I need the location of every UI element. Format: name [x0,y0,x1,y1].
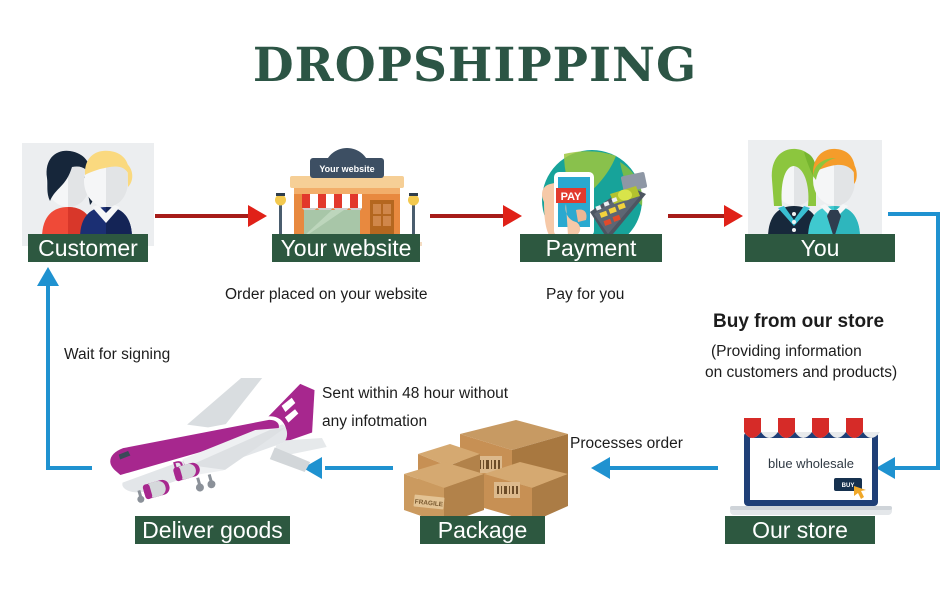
page-title: DROPSHIPPING [0,38,950,93]
arrow-website-to-payment-head [503,205,522,227]
arrow-customer-to-website-head [248,205,267,227]
arrow-right-vertical-segment [936,212,940,470]
arrow-payment-to-you-line [668,214,726,218]
label-package: Package [420,516,545,544]
arrow-store-to-package-line [610,466,718,470]
annotation-sent-within-line2: any infotmation [322,411,427,432]
phone-pay-text: PAY [561,191,582,203]
annotation-pay-for-you: Pay for you [546,284,624,305]
annotation-buy-sub-line2: on customers and products) [705,362,897,383]
annotation-wait-for-signing: Wait for signing [64,344,170,365]
arrow-you-right-segment [888,212,940,216]
arrow-payment-to-you-head [724,205,743,227]
arrow-to-our-store-line [895,466,940,470]
box-right [484,462,568,522]
arrow-store-to-package-head [591,457,610,479]
buy-button-label: BUY [842,483,855,489]
label-our-store: Our store [725,516,875,544]
box-fragile: FRAGILE [404,462,484,524]
label-your-website: Your website [272,234,420,262]
label-you: You [745,234,895,262]
arrow-website-to-payment-line [430,214,505,218]
customer-illustration [22,143,154,246]
storefront-sign-text: Your website [319,164,374,174]
arrow-customer-to-website-line [155,214,250,218]
label-payment: Payment [520,234,662,262]
label-customer: Customer [28,234,148,262]
arrow-left-vertical-segment [46,285,50,468]
dropshipping-infographic: DROPSHIPPING [0,0,950,611]
annotation-processes-order: Processes order [570,433,683,454]
laptop-screen-text: blue wholesale [768,456,854,471]
customer-person-right [80,151,132,238]
deliver-goods-illustration: DELIVERY [78,378,338,530]
label-deliver-goods: Deliver goods [135,516,290,544]
annotation-buy-sub-line1: (Providing information [711,341,862,362]
annotation-sent-within-line1: Sent within 48 hour without [322,383,508,404]
arrow-to-customer-head [37,267,59,286]
annotation-order-placed: Order placed on your website [225,284,427,305]
annotation-buy-from-our-store: Buy from our store [713,311,884,332]
you-illustration [748,140,882,246]
our-store-illustration: blue wholesale BUY [722,412,900,530]
